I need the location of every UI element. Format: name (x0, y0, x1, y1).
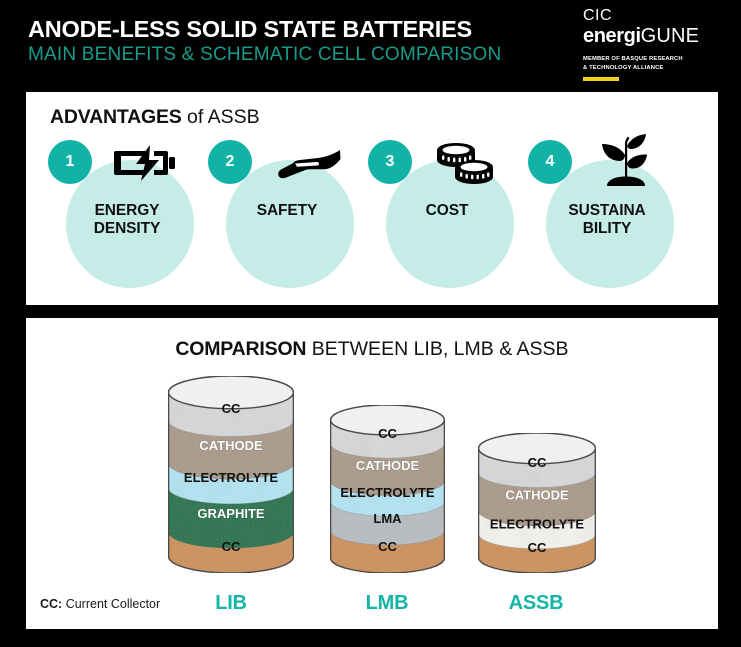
page-subtitle: MAIN BENEFITS & SCHEMATIC CELL COMPARISO… (28, 44, 501, 66)
advantage-label: SAFETY (212, 202, 362, 220)
logo-accent-bar (583, 77, 619, 81)
advantage-item-safety[interactable]: 2 SAFETY (208, 140, 354, 270)
svg-text:CATHODE: CATHODE (356, 458, 420, 473)
cell-caption-lmb: LMB (312, 592, 462, 615)
svg-text:ELECTROLYTE: ELECTROLYTE (340, 485, 434, 500)
cell-diagram-lib: CCCATHODEELECTROLYTEGRAPHITECC (168, 376, 294, 573)
advantage-item-energy-density[interactable]: 1 ENERGY DENSITY (48, 140, 194, 270)
svg-text:CATHODE: CATHODE (199, 438, 263, 453)
advantage-number-badge: 1 (48, 140, 92, 184)
logo-gune-text: GUNE (641, 25, 700, 47)
svg-text:CC: CC (378, 539, 397, 554)
advantage-label: ENERGY DENSITY (52, 202, 202, 238)
stacked-coins-icon (434, 142, 496, 191)
logo-energigune-text: energiGUNE (583, 25, 723, 48)
advantage-label: SUSTAINA BILITY (532, 202, 682, 238)
advantages-heading-light: of ASSB (182, 106, 260, 128)
battery-charging-icon (114, 144, 176, 187)
legend-text: Current Collector (62, 597, 160, 611)
advantage-item-sustainability[interactable]: 4 SUSTAINA BILITY (528, 140, 674, 270)
page-title: ANODE-LESS SOLID STATE BATTERIES (28, 16, 472, 43)
logo-cic-text: CIC (583, 8, 723, 24)
cic-energigune-logo: CIC energiGUNE MEMBER OF BASQUE RESEARCH… (583, 8, 723, 81)
advantages-panel: ADVANTAGES of ASSB 1 ENERGY DENSITY 2 SA… (26, 92, 718, 305)
logo-member-tagline: MEMBER OF BASQUE RESEARCH & TECHNOLOGY A… (583, 55, 723, 72)
advantages-heading: ADVANTAGES of ASSB (50, 106, 260, 129)
svg-text:CC: CC (528, 540, 547, 555)
page-header: ANODE-LESS SOLID STATE BATTERIES MAIN BE… (0, 0, 741, 92)
svg-text:CC: CC (222, 401, 241, 416)
cell-caption-lib: LIB (156, 592, 306, 615)
svg-text:LMA: LMA (373, 511, 402, 526)
plant-sprout-icon (598, 130, 654, 197)
svg-text:CATHODE: CATHODE (505, 487, 569, 502)
svg-text:ELECTROLYTE: ELECTROLYTE (184, 470, 278, 485)
svg-text:GRAPHITE: GRAPHITE (197, 506, 265, 521)
advantage-number-badge: 4 (528, 140, 572, 184)
comparison-panel: COMPARISON BETWEEN LIB, LMB & ASSB CCCAT… (26, 318, 718, 629)
advantage-number-badge: 2 (208, 140, 252, 184)
cell-caption-assb: ASSB (461, 592, 611, 615)
logo-member-line-2: & TECHNOLOGY ALLIANCE (583, 64, 723, 73)
advantage-item-cost[interactable]: 3 (368, 140, 514, 270)
advantage-number-badge: 3 (368, 140, 412, 184)
svg-text:CC: CC (222, 539, 241, 554)
cell-diagram-assb: CCCATHODEELECTROLYTECC (478, 433, 596, 573)
logo-member-line-1: MEMBER OF BASQUE RESEARCH (583, 55, 723, 64)
advantages-heading-bold: ADVANTAGES (50, 106, 182, 128)
cell-diagrams: CCCATHODEELECTROLYTEGRAPHITECC CCCATHODE… (26, 318, 718, 629)
cell-diagram-lmb: CCCATHODEELECTROLYTELMACC (330, 405, 445, 573)
legend-abbr: CC: (40, 597, 62, 611)
svg-text:CC: CC (528, 455, 547, 470)
logo-energi-text: energi (583, 25, 641, 47)
advantage-label: COST (372, 202, 522, 220)
current-collector-legend: CC: Current Collector (40, 597, 160, 611)
svg-text:ELECTROLYTE: ELECTROLYTE (490, 516, 584, 531)
protecting-hand-icon (270, 148, 342, 187)
svg-text:CC: CC (378, 426, 397, 441)
